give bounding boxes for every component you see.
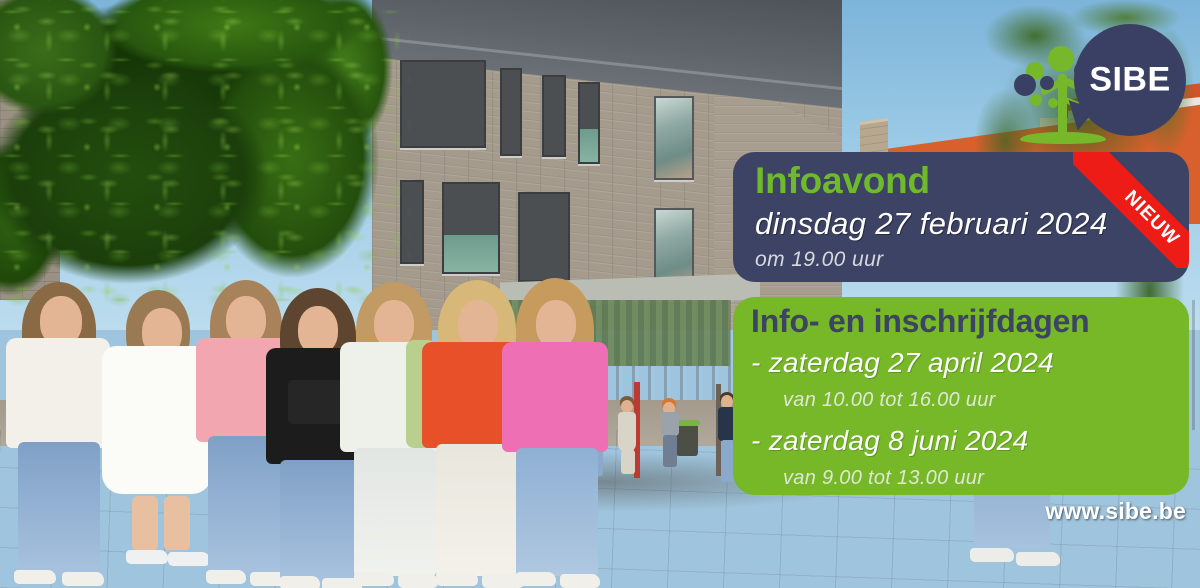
inschrijfdagen-heading: Info- en inschrijfdagen	[751, 305, 1090, 337]
logo-text: SIBE	[1074, 61, 1186, 100]
poster: SIBE Infoavond dinsdag 27 februari 2024 …	[0, 0, 1200, 588]
trash-bin	[676, 424, 698, 456]
student	[500, 278, 612, 588]
tree-leaf-dot	[1048, 98, 1058, 108]
open-day-date: - zaterdag 27 april 2024	[751, 347, 1054, 379]
tree-base	[1020, 132, 1106, 144]
window	[542, 75, 566, 157]
open-day-time: van 9.00 tot 13.00 uur	[783, 467, 984, 490]
website-url[interactable]: www.sibe.be	[1045, 498, 1186, 525]
inschrijfdagen-panel[interactable]: Info- en inschrijfdagen - zaterdag 27 ap…	[733, 297, 1189, 495]
ribbon-label: NIEUW	[1120, 187, 1184, 251]
ribbon-band: NIEUW	[1073, 152, 1189, 268]
open-day-time: van 10.00 tot 16.00 uur	[783, 389, 996, 412]
logo-bubble: SIBE	[1074, 24, 1186, 136]
tree-leaf-dot	[1048, 46, 1074, 72]
foreground-tree	[0, 0, 410, 320]
window	[500, 68, 522, 156]
infoavond-date: dinsdag 27 februari 2024	[755, 206, 1108, 242]
window	[654, 96, 694, 180]
tree-leaf-dot	[1030, 94, 1042, 106]
infoavond-panel[interactable]: Infoavond dinsdag 27 februari 2024 om 19…	[733, 152, 1189, 282]
window	[442, 182, 500, 274]
sibe-logo[interactable]: SIBE	[1012, 18, 1192, 158]
tree-leaf-dot	[1040, 76, 1054, 90]
window	[578, 82, 600, 164]
tree-leaf-dot	[1014, 74, 1036, 96]
open-day-date: - zaterdag 8 juni 2024	[751, 425, 1028, 457]
window	[400, 60, 486, 148]
window	[518, 192, 570, 282]
infoavond-time: om 19.00 uur	[755, 248, 884, 272]
nieuw-ribbon: NIEUW	[1073, 152, 1189, 268]
infoavond-heading: Infoavond	[755, 162, 930, 199]
